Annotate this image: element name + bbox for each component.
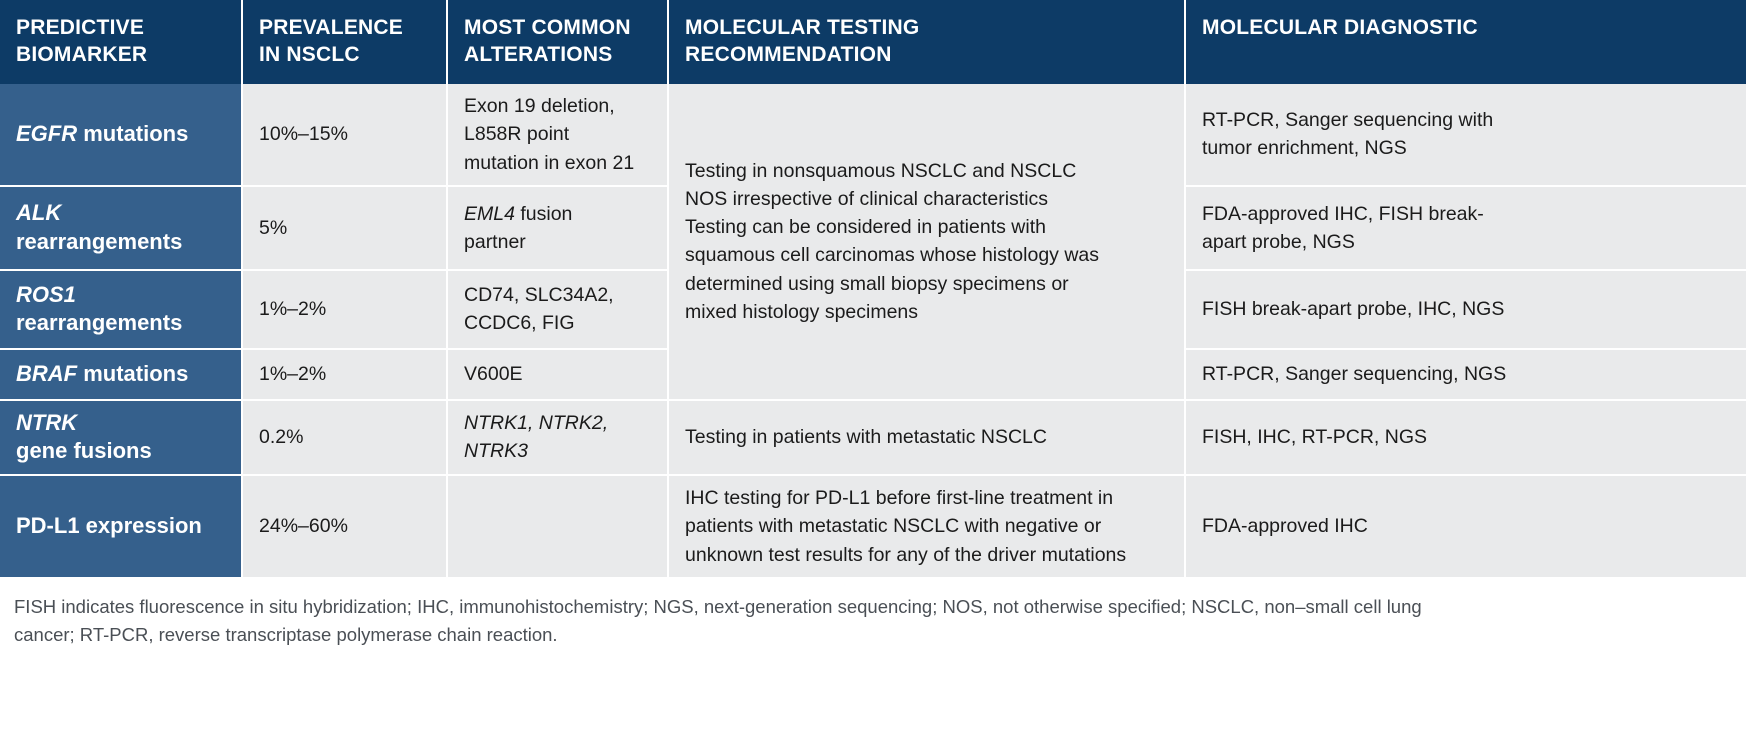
prevalence-cell: 5% xyxy=(242,186,447,270)
table-header: PREDICTIVE BIOMARKER PREVALENCE IN NSCLC… xyxy=(0,0,1746,84)
diagnostic-line: apart probe, NGS xyxy=(1202,228,1730,256)
prevalence-cell: 1%–2% xyxy=(242,349,447,400)
alteration-line: L858R point xyxy=(464,120,651,148)
recommendation-line: unknown test results for any of the driv… xyxy=(685,541,1168,569)
table-body: EGFR mutations 10%–15% Exon 19 deletion,… xyxy=(0,84,1746,577)
recommendation-line: NOS irrespective of clinical characteris… xyxy=(685,185,1168,213)
molecular-diagnostic-cell: RT-PCR, Sanger sequencing, NGS xyxy=(1185,349,1746,400)
molecular-diagnostic-cell: FDA-approved IHC, FISH break- apart prob… xyxy=(1185,186,1746,270)
prevalence-cell: 24%–60% xyxy=(242,475,447,577)
alteration-line: CCDC6, FIG xyxy=(464,309,651,337)
molecular-testing-recommendation-cell: Testing in patients with metastatic NSCL… xyxy=(668,400,1185,475)
molecular-diagnostic-cell: FISH break-apart probe, IHC, NGS xyxy=(1185,270,1746,349)
diagnostic-line: tumor enrichment, NGS xyxy=(1202,134,1730,162)
recommendation-line: Testing can be considered in patients wi… xyxy=(685,213,1168,241)
recommendation-line: Testing in nonsquamous NSCLC and NSCLC xyxy=(685,157,1168,185)
gene-symbol: ROS1 xyxy=(16,282,76,307)
prevalence-cell: 10%–15% xyxy=(242,84,447,186)
gene-symbol-italic: EML4 xyxy=(464,203,515,225)
recommendation-line: determined using small biopsy specimens … xyxy=(685,270,1168,298)
biomarker-name-cell: PD-L1 expression xyxy=(0,475,242,577)
header-line-2: BIOMARKER xyxy=(16,41,227,68)
alterations-cell: NTRK1, NTRK2, NTRK3 xyxy=(447,400,668,475)
header-line-2: RECOMMENDATION xyxy=(685,41,1170,68)
header-line-2: IN NSCLC xyxy=(259,41,432,68)
alteration-line: mutation in exon 21 xyxy=(464,149,651,177)
gene-descriptor: gene fusions xyxy=(16,437,225,466)
gene-symbol: BRAF xyxy=(16,361,77,386)
table-row: NTRK gene fusions 0.2% NTRK1, NTRK2, NTR… xyxy=(0,400,1746,475)
biomarker-name-cell: ROS1 rearrangements xyxy=(0,270,242,349)
diagnostic-line: FDA-approved IHC, FISH break- xyxy=(1202,200,1730,228)
diagnostic-line: FDA-approved IHC xyxy=(1202,512,1730,540)
header-line-1: MOLECULAR TESTING xyxy=(685,14,1170,41)
recommendation-line: IHC testing for PD-L1 before first-line … xyxy=(685,484,1168,512)
diagnostic-line: FISH, IHC, RT-PCR, NGS xyxy=(1202,423,1730,451)
prevalence-cell: 0.2% xyxy=(242,400,447,475)
molecular-diagnostic-cell: FISH, IHC, RT-PCR, NGS xyxy=(1185,400,1746,475)
alteration-line: CD74, SLC34A2, xyxy=(464,281,651,309)
alteration-line: V600E xyxy=(464,360,651,388)
biomarker-name-cell: BRAF mutations xyxy=(0,349,242,400)
diagnostic-line: FISH break-apart probe, IHC, NGS xyxy=(1202,295,1730,323)
header-line-1: MOLECULAR DIAGNOSTIC xyxy=(1202,14,1732,41)
column-header-predictive-biomarker: PREDICTIVE BIOMARKER xyxy=(0,0,242,84)
gene-descriptor: rearrangements xyxy=(16,228,225,257)
alterations-cell: Exon 19 deletion, L858R point mutation i… xyxy=(447,84,668,186)
table-row: PD-L1 expression 24%–60% IHC testing for… xyxy=(0,475,1746,577)
biomarker-name-cell: EGFR mutations xyxy=(0,84,242,186)
prevalence-cell: 1%–2% xyxy=(242,270,447,349)
table-footnote: FISH indicates fluorescence in situ hybr… xyxy=(0,577,1746,650)
gene-suffix: mutations xyxy=(77,121,188,146)
diagnostic-line: RT-PCR, Sanger sequencing with xyxy=(1202,106,1730,134)
column-header-molecular-testing-recommendation: MOLECULAR TESTING RECOMMENDATION xyxy=(668,0,1185,84)
alteration-line: NTRK1, NTRK2, xyxy=(464,409,651,437)
footnote-line-1: FISH indicates fluorescence in situ hybr… xyxy=(14,593,1732,622)
alteration-line: Exon 19 deletion, xyxy=(464,92,651,120)
molecular-diagnostic-cell: FDA-approved IHC xyxy=(1185,475,1746,577)
header-line-1: MOST COMMON xyxy=(464,14,653,41)
header-line-1: PREDICTIVE xyxy=(16,14,227,41)
table-row: EGFR mutations 10%–15% Exon 19 deletion,… xyxy=(0,84,1746,186)
header-row: PREDICTIVE BIOMARKER PREVALENCE IN NSCLC… xyxy=(0,0,1746,84)
predictive-biomarker-table: PREDICTIVE BIOMARKER PREVALENCE IN NSCLC… xyxy=(0,0,1746,577)
alterations-cell xyxy=(447,475,668,577)
biomarker-table-container: PREDICTIVE BIOMARKER PREVALENCE IN NSCLC… xyxy=(0,0,1746,650)
diagnostic-line: RT-PCR, Sanger sequencing, NGS xyxy=(1202,360,1730,388)
molecular-testing-recommendation-cell: IHC testing for PD-L1 before first-line … xyxy=(668,475,1185,577)
gene-symbol: EGFR xyxy=(16,121,77,146)
column-header-molecular-diagnostic: MOLECULAR DIAGNOSTIC xyxy=(1185,0,1746,84)
molecular-diagnostic-cell: RT-PCR, Sanger sequencing with tumor enr… xyxy=(1185,84,1746,186)
alteration-line: EML4 fusion xyxy=(464,200,651,228)
recommendation-line: squamous cell carcinomas whose histology… xyxy=(685,241,1168,269)
gene-symbol: NTRK xyxy=(16,410,77,435)
gene-suffix: mutations xyxy=(77,361,188,386)
alteration-line: NTRK3 xyxy=(464,437,651,465)
alteration-line: partner xyxy=(464,228,651,256)
recommendation-line: Testing in patients with metastatic NSCL… xyxy=(685,423,1168,451)
recommendation-line: mixed histology specimens xyxy=(685,298,1168,326)
footnote-line-2: cancer; RT-PCR, reverse transcriptase po… xyxy=(14,621,1732,650)
alterations-cell: V600E xyxy=(447,349,668,400)
gene-descriptor: rearrangements xyxy=(16,309,225,338)
header-line-1: PREVALENCE xyxy=(259,14,432,41)
gene-symbol: ALK xyxy=(16,200,61,225)
biomarker-name-cell: ALK rearrangements xyxy=(0,186,242,270)
biomarker-name-cell: NTRK gene fusions xyxy=(0,400,242,475)
header-line-2: ALTERATIONS xyxy=(464,41,653,68)
alterations-cell: CD74, SLC34A2, CCDC6, FIG xyxy=(447,270,668,349)
column-header-most-common-alterations: MOST COMMON ALTERATIONS xyxy=(447,0,668,84)
alterations-cell: EML4 fusion partner xyxy=(447,186,668,270)
recommendation-line: patients with metastatic NSCLC with nega… xyxy=(685,512,1168,540)
biomarker-label: PD-L1 expression xyxy=(16,513,202,538)
column-header-prevalence-in-nsclc: PREVALENCE IN NSCLC xyxy=(242,0,447,84)
molecular-testing-recommendation-cell: Testing in nonsquamous NSCLC and NSCLC N… xyxy=(668,84,1185,400)
